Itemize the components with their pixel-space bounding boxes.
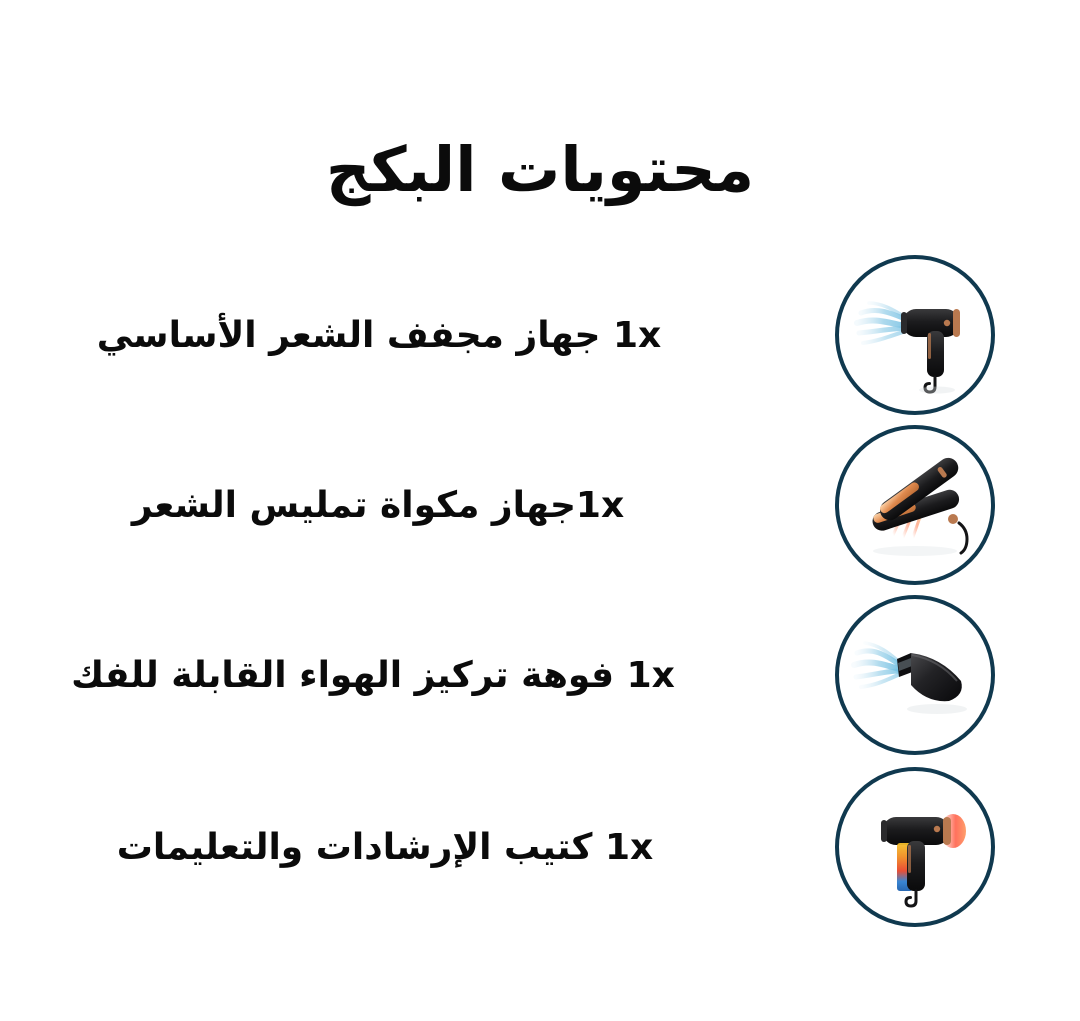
item-label-straightener: 1xجهاز مكواة تمليس الشعر <box>0 483 766 528</box>
item-label-manual: 1x كتيب الإرشادات والتعليمات <box>0 825 780 870</box>
thumbnail-circle <box>835 595 995 755</box>
hair-straightener-icon <box>849 439 981 571</box>
thumbnail-wrapper <box>750 595 1080 755</box>
list-item: 1xجهاز مكواة تمليس الشعر <box>0 420 1080 590</box>
thumbnail-circle <box>835 255 995 415</box>
thumbnail-wrapper <box>750 255 1080 415</box>
hair-dryer-color-icon <box>849 781 981 913</box>
hair-dryer-airflow-icon <box>849 269 981 401</box>
package-contents-page: { "page": { "title": "محتويات البكج", "b… <box>0 0 1080 1021</box>
package-contents-list: 1x جهاز مجفف الشعر الأساسي <box>0 0 1080 1021</box>
list-item: 1x جهاز مجفف الشعر الأساسي <box>0 250 1080 420</box>
thumbnail-circle <box>835 425 995 585</box>
concentrator-nozzle-icon <box>849 609 981 741</box>
item-label-hair-dryer: 1x جهاز مجفف الشعر الأساسي <box>0 313 758 358</box>
list-item: 1x فوهة تركيز الهواء القابلة للفك <box>0 590 1080 760</box>
list-item: 1x كتيب الإرشادات والتعليمات <box>0 762 1080 932</box>
item-label-nozzle: 1x فوهة تركيز الهواء القابلة للفك <box>0 653 756 698</box>
thumbnail-wrapper <box>750 425 1080 585</box>
thumbnail-circle <box>835 767 995 927</box>
thumbnail-wrapper <box>750 767 1080 927</box>
